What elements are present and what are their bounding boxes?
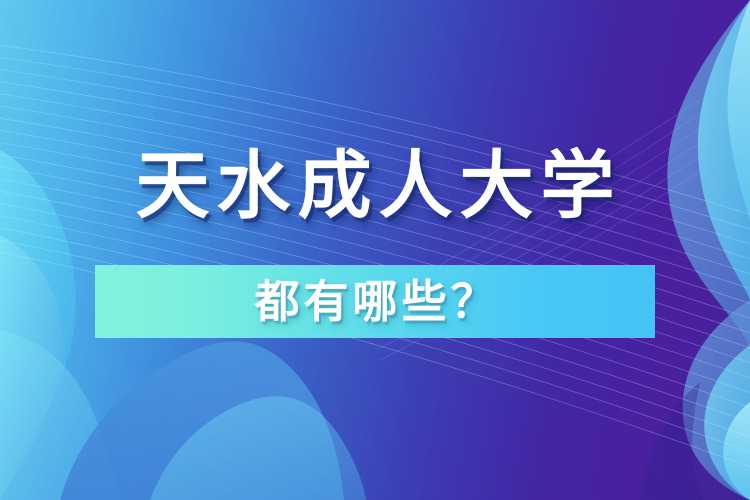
banner-title: 天水成人大学 xyxy=(129,148,622,226)
banner-subtitle: 都有哪些？ xyxy=(250,279,499,324)
promo-banner: 天水成人大学 都有哪些？ xyxy=(0,0,750,500)
subtitle-bar: 都有哪些？ xyxy=(95,265,655,338)
title-container: 天水成人大学 xyxy=(0,148,750,226)
background-waves xyxy=(0,0,750,500)
line-texture xyxy=(0,0,750,500)
